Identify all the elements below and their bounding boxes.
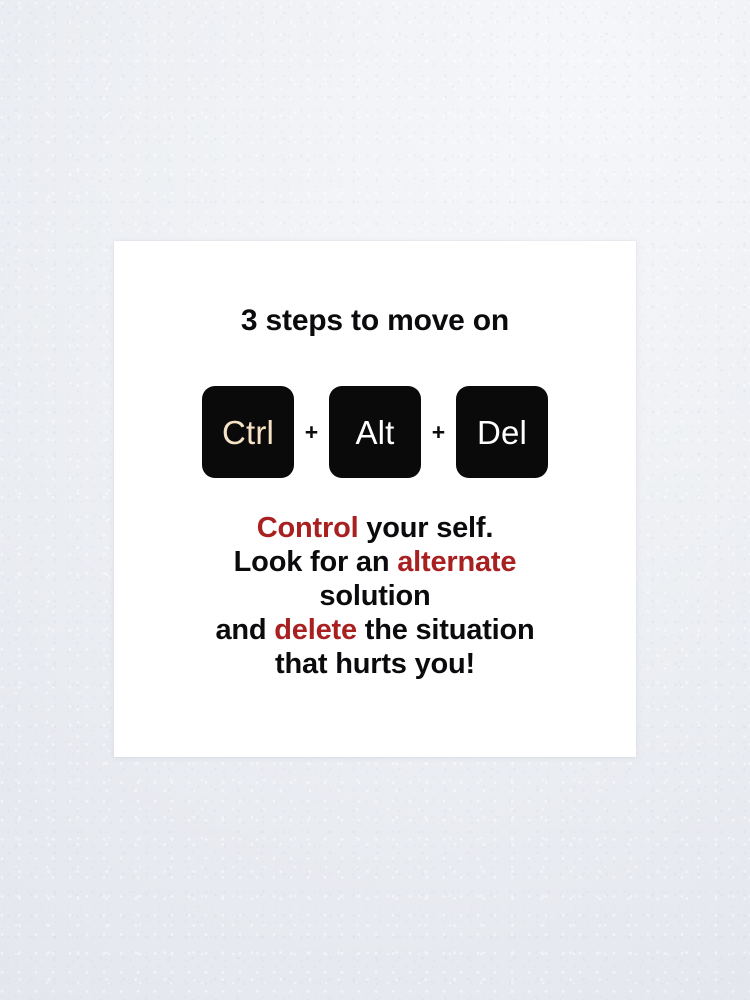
body-text-run: solution xyxy=(319,580,430,612)
plus-separator-icon: + xyxy=(421,421,456,444)
body-text-run: Look for an xyxy=(234,546,398,578)
key-cap-del: Del xyxy=(456,386,548,478)
key-cap-label: Del xyxy=(477,416,527,449)
poster: 3 steps to move on Ctrl + Alt + Del Cont… xyxy=(114,241,636,757)
key-cap-alt: Alt xyxy=(329,386,421,478)
body-text-run: the situation xyxy=(357,614,535,646)
poster-body-line: Look for an alternate xyxy=(114,545,636,579)
poster-body-line: solution xyxy=(114,579,636,613)
body-text-run: your self. xyxy=(358,512,493,544)
body-text-run: that hurts you! xyxy=(275,648,475,680)
key-cap-label: Ctrl xyxy=(222,416,274,449)
key-cap-label: Alt xyxy=(355,416,394,449)
poster-body-text: Control your self.Look for an alternates… xyxy=(114,511,636,681)
accent-word: Control xyxy=(257,512,359,544)
poster-body-line: and delete the situation xyxy=(114,613,636,647)
body-text-run: and xyxy=(215,614,274,646)
poster-content: 3 steps to move on Ctrl + Alt + Del Cont… xyxy=(114,241,636,757)
keyboard-shortcut-row: Ctrl + Alt + Del xyxy=(202,386,548,478)
poster-body-line: Control your self. xyxy=(114,511,636,545)
plus-separator-icon: + xyxy=(294,421,329,444)
poster-body-line: that hurts you! xyxy=(114,647,636,681)
accent-word: delete xyxy=(274,614,357,646)
accent-word: alternate xyxy=(397,546,516,578)
key-cap-ctrl: Ctrl xyxy=(202,386,294,478)
page-title: 3 steps to move on xyxy=(241,306,509,336)
